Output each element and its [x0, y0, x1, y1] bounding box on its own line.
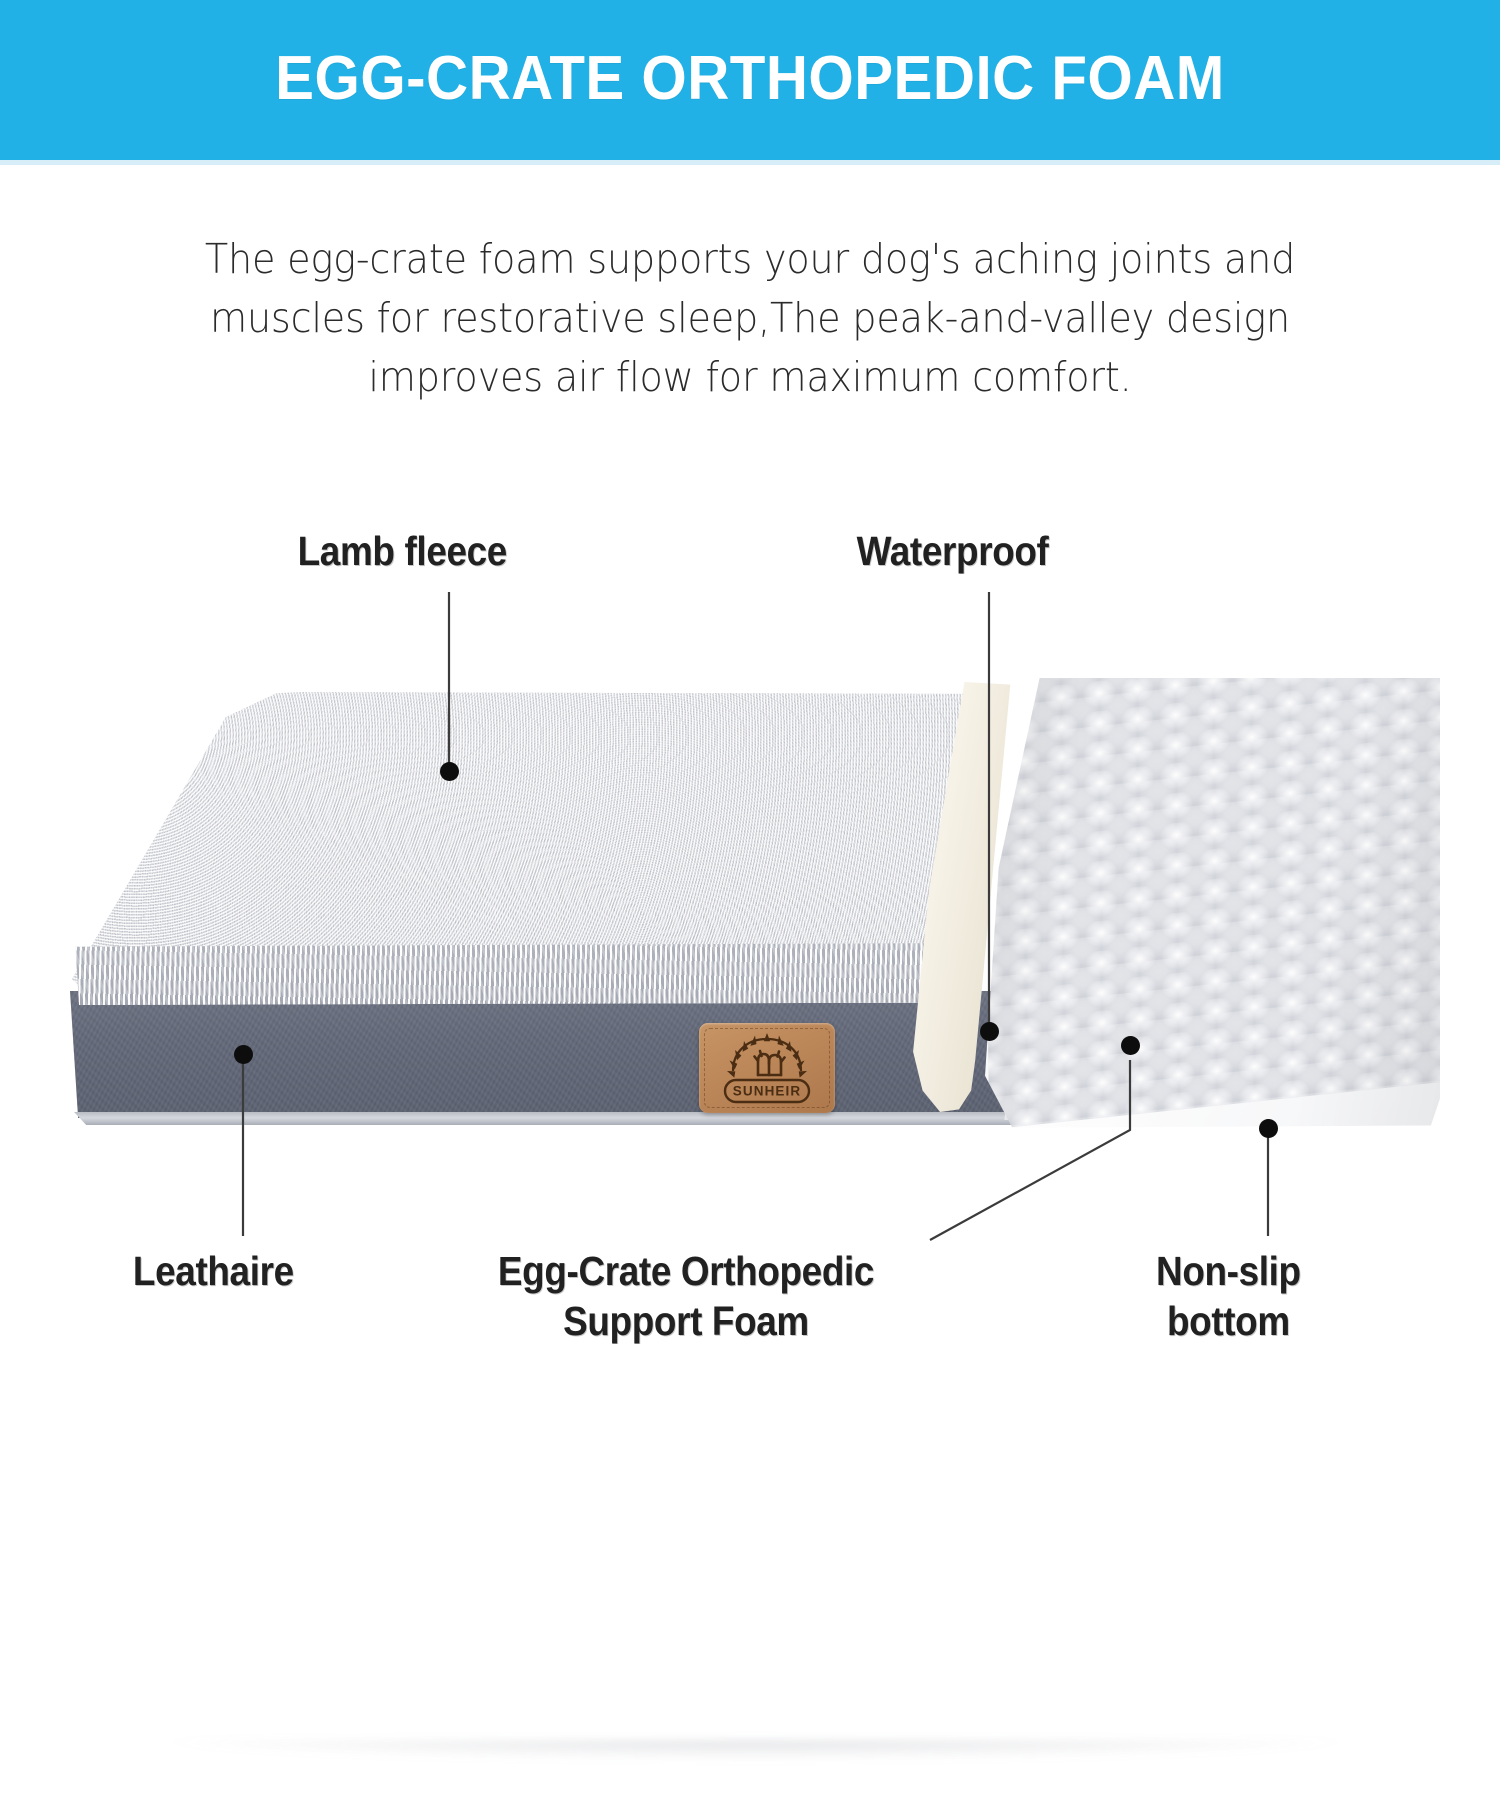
callout-label-egg-crate: Egg-Crate Orthopedic Support Foam — [498, 1246, 874, 1346]
callout-dot-leathaire — [234, 1045, 253, 1064]
sunheir-logo-icon: SUNHEIR — [699, 1023, 835, 1113]
brand-name-text: SUNHEIR — [733, 1084, 801, 1099]
callout-dot-lamb-fleece — [440, 762, 459, 781]
header-banner: EGG-CRATE ORTHOPEDIC FOAM — [0, 0, 1500, 160]
callout-dot-non-slip — [1259, 1119, 1278, 1138]
callout-label-waterproof: Waterproof — [857, 526, 1049, 576]
brand-patch: SUNHEIR — [699, 1023, 835, 1113]
egg-crate-foam-slab — [985, 678, 1440, 1130]
floor-shadow — [60, 1740, 1450, 1798]
banner-divider — [0, 160, 1500, 165]
fleece-edge-lip — [70, 943, 980, 1005]
page-title: EGG-CRATE ORTHOPEDIC FOAM — [45, 44, 1455, 114]
callout-label-non-slip: Non-slip bottom — [1156, 1246, 1301, 1346]
callout-dot-egg-crate — [1121, 1036, 1140, 1055]
foam-shading-overlay — [985, 678, 1440, 1130]
callout-label-leathaire: Leathaire — [133, 1246, 294, 1296]
callout-label-lamb-fleece: Lamb fleece — [298, 526, 507, 576]
callout-dot-waterproof — [980, 1022, 999, 1041]
description-paragraph: The egg-crate foam supports your dog's a… — [192, 230, 1308, 407]
